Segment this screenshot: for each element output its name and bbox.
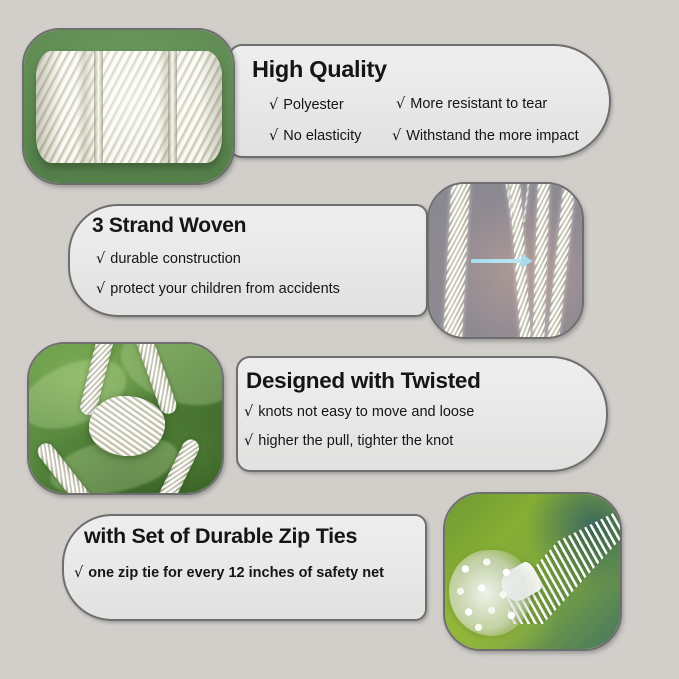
bullet-text: durable construction xyxy=(110,251,241,267)
bullet-knots-not-easy-to-move: √ knots not easy to move and loose xyxy=(244,404,474,420)
bullet-no-elasticity: √ No elasticity xyxy=(269,128,361,144)
knot-photo-background xyxy=(29,344,222,493)
three-strand-photo-background xyxy=(429,184,582,337)
check-icon: √ xyxy=(96,251,105,267)
bullet-withstand-more-impact: √ Withstand the more impact xyxy=(392,128,579,144)
rope-strand-c xyxy=(546,182,577,339)
knot-on-leaves-photo xyxy=(27,342,224,495)
bullet-text: one zip tie for every 12 inches of safet… xyxy=(88,565,384,581)
rope-coil-photo xyxy=(22,28,235,185)
check-icon: √ xyxy=(96,281,105,297)
bullet-durable-construction: √ durable construction xyxy=(96,251,241,267)
bullet-polyester: √ Polyester xyxy=(269,97,344,113)
bullet-text: protect your children from accidents xyxy=(110,281,340,297)
zip-tie-heads xyxy=(449,550,531,636)
coil-band-right xyxy=(168,51,177,163)
heading-three-strand-woven: 3 Strand Woven xyxy=(92,214,246,238)
product-feature-infographic: High Quality √ Polyester √ No elasticity… xyxy=(0,0,679,679)
three-strand-closeup-photo xyxy=(427,182,584,339)
loose-fiber-b xyxy=(523,182,531,222)
check-icon: √ xyxy=(244,404,253,420)
bullet-text: No elasticity xyxy=(283,128,361,144)
zip-ties-bundle-photo xyxy=(443,492,622,651)
check-icon: √ xyxy=(269,97,278,113)
bullet-text: Withstand the more impact xyxy=(406,128,578,144)
rope-strand-b xyxy=(532,182,550,339)
check-icon: √ xyxy=(269,128,278,144)
heading-high-quality: High Quality xyxy=(252,56,387,83)
check-icon: √ xyxy=(74,565,83,581)
rope-knot-core xyxy=(89,396,165,456)
rope-coil-shape xyxy=(36,51,222,163)
check-icon: √ xyxy=(392,128,401,144)
coil-band-left xyxy=(94,51,103,163)
bullet-protect-children: √ protect your children from accidents xyxy=(96,281,340,297)
bullet-text: More resistant to tear xyxy=(410,96,547,112)
bullet-higher-pull-tighter-knot: √ higher the pull, tighter the knot xyxy=(244,433,453,449)
rope-coil-photo-background xyxy=(24,30,233,183)
zip-ties-photo-background xyxy=(445,494,620,649)
bullet-more-resistant-to-tear: √ More resistant to tear xyxy=(396,96,547,112)
heading-designed-with-twisted: Designed with Twisted xyxy=(246,368,481,394)
bullet-text: higher the pull, tighter the knot xyxy=(258,433,453,449)
transition-arrow-line xyxy=(471,259,523,263)
transition-arrow-head-icon xyxy=(521,254,533,268)
bullet-text: knots not easy to move and loose xyxy=(258,404,474,420)
rope-strand-whole xyxy=(442,182,470,339)
check-icon: √ xyxy=(244,433,253,449)
check-icon: √ xyxy=(396,96,405,112)
heading-zip-ties: with Set of Durable Zip Ties xyxy=(84,524,357,549)
bullet-one-zip-tie-per-12-inches: √ one zip tie for every 12 inches of saf… xyxy=(74,565,384,581)
bullet-text: Polyester xyxy=(283,97,343,113)
